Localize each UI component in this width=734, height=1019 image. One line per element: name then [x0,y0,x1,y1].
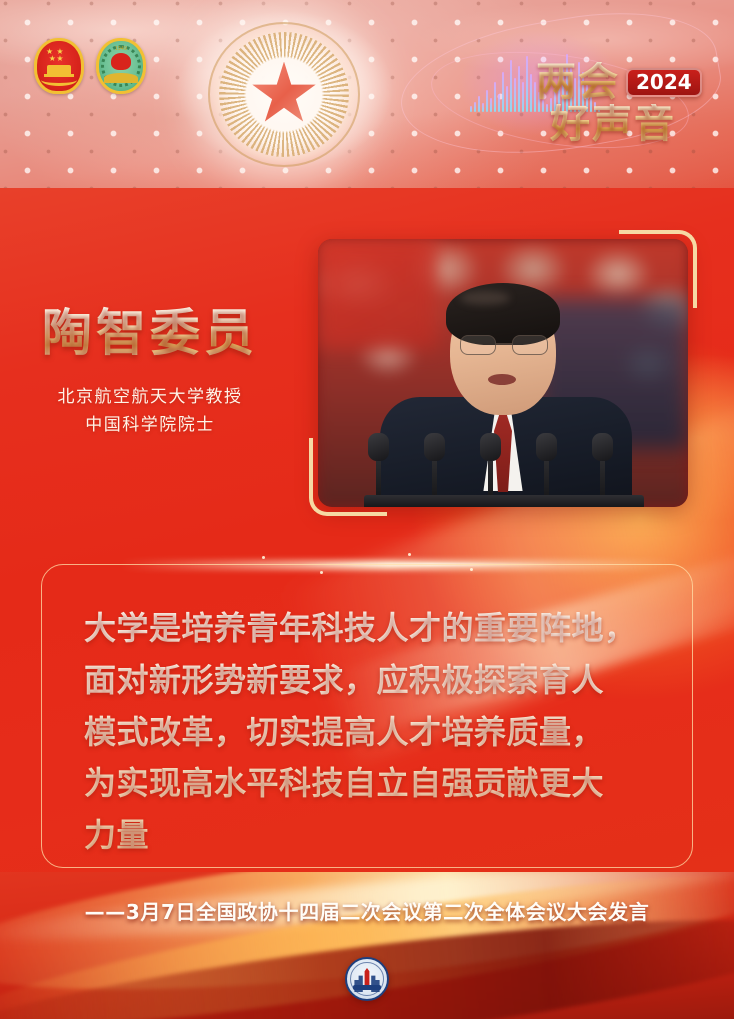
waveform-bar [506,86,508,112]
quote-text: 大学是培养青年科技人才的重要阵地， 面对新形势新要求，应积极探索育人 模式改革，… [84,603,658,862]
cppcc-emblem-year: 1949 [99,46,143,52]
national-emblem-of-china-icon: ★ ★ ★★ [34,38,84,94]
emblem-group: ★ ★ ★★ 1949 [34,38,146,94]
cppcc-emblem-icon: 1949 [96,38,146,94]
waveform-bar [474,102,476,112]
waveform-bar [526,56,528,112]
quote-line: 大学是培养青年科技人才的重要阵地， [84,603,658,655]
great-hall-ceiling-icon [208,22,360,167]
waveform-bar [510,60,512,112]
waveform-bar [522,82,524,112]
speaker-roles: 北京航空航天大学教授 中国科学院院士 [0,383,300,439]
podium-bar [364,495,644,507]
speaker-name: 陶智委员 [0,305,300,361]
poster: ★ ★ ★★ 1949 两会 2024 好声音 陶智委员 [0,0,734,1019]
quote-line: 模式改革，切实提高人才培养质量， [84,707,658,759]
photo-corner-bottom-left [309,438,387,516]
poster-header: ★ ★ ★★ 1949 两会 2024 好声音 [0,0,734,196]
waveform-bar [498,94,500,112]
emblem-base-bar [353,985,381,990]
waveform-bar [490,98,492,112]
photo-red-seating [318,239,438,349]
waveform-bar [482,103,484,112]
publisher-round-emblem-icon [345,957,389,1001]
waveform-bar [530,74,532,112]
photo-mouth [488,374,516,385]
speaker-role-line: 北京航空航天大学教授 [0,383,300,411]
spark-dot [262,556,265,559]
brand-subtitle: 好声音 [536,104,712,144]
emblem-stars: ★ ★ ★★ [46,48,64,62]
brand-logo: 两会 2024 好声音 [536,62,712,144]
speaker-info: 陶智委员 北京航空航天大学教授 中国科学院院士 [0,305,300,439]
brand-top-row: 两会 2024 [536,62,712,102]
quote-line: 面对新形势新要求，应积极探索育人 [84,655,658,707]
waveform-bar [478,96,480,112]
red-star-icon [251,62,317,128]
quote-line: 为实现高水平科技自立自强贡献更大 [84,758,658,810]
brand-year-badge: 2024 [626,68,702,97]
emblem-wheat-ears [41,74,77,86]
footer-caption: ——3月7日全国政协十四届二次会议第二次全体会议大会发言 [0,896,734,925]
waveform-bar [502,72,504,112]
waveform-bar [470,106,472,112]
photo-corner-top-right [619,230,697,308]
photo-glasses [460,335,548,355]
speaker-photo-frame [318,239,688,507]
quote-card: 大学是培养青年科技人才的重要阵地， 面对新形势新要求，应积极探索育人 模式改革，… [41,564,693,868]
waveform-bar [494,82,496,112]
waveform-bar [518,66,520,112]
waveform-bar [486,90,488,112]
speaker-role-line: 中国科学院院士 [0,411,300,439]
waveform-bar [514,78,516,112]
brand-title: 两会 [536,62,620,102]
spark-dot [408,553,411,556]
quote-line: 力量 [84,810,658,862]
photo-microphones [364,429,644,507]
